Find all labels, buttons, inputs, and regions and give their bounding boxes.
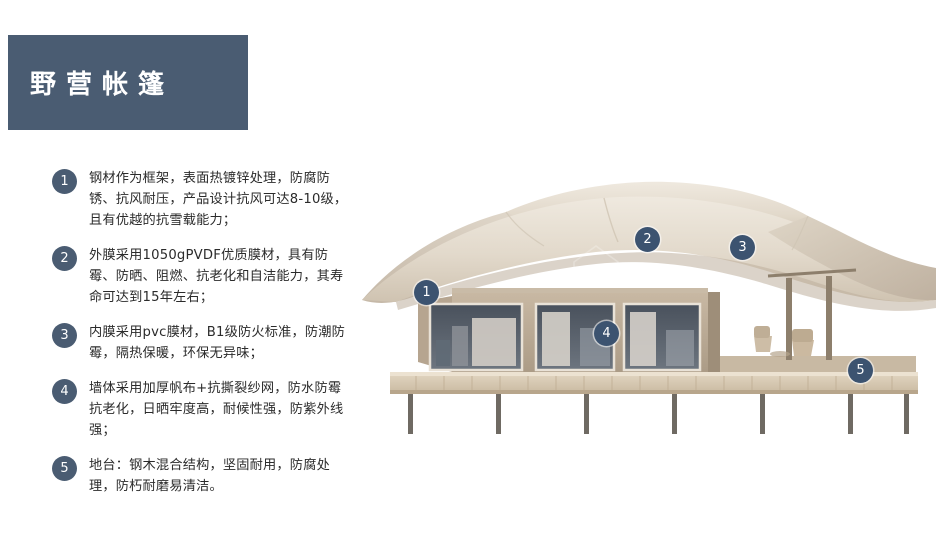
callout-marker-2[interactable]: 2 — [635, 227, 660, 252]
list-item: 3 内膜采用pvc膜材，B1级防火标准，防潮防霉，隔热保暖，环保无异味； — [52, 322, 352, 364]
callout-marker-1[interactable]: 1 — [414, 280, 439, 305]
page-title: 野营帐篷 — [8, 64, 174, 101]
lounge-chair-left — [754, 326, 772, 352]
feature-badge-5: 5 — [52, 456, 77, 481]
feature-text-3: 内膜采用pvc膜材，B1级防火标准，防潮防霉，隔热保暖，环保无异味； — [89, 322, 352, 364]
tent-drawing — [356, 150, 942, 440]
lounge-chair-right — [792, 329, 814, 356]
feature-text-2: 外膜采用1050gPVDF优质膜材，具有防霉、防晒、阻燃、抗老化和自洁能力，其寿… — [89, 245, 352, 308]
callout-marker-5[interactable]: 5 — [848, 358, 873, 383]
title-block: 野营帐篷 — [8, 35, 248, 130]
deck-platform — [390, 372, 918, 434]
feature-list: 1 钢材作为框架，表面热镀锌处理，防腐防锈、抗风耐压，产品设计抗风可达8-10级… — [52, 168, 352, 511]
feature-badge-1: 1 — [52, 169, 77, 194]
tent-illustration: 1 2 3 4 5 — [356, 150, 942, 440]
feature-badge-4: 4 — [52, 379, 77, 404]
list-item: 5 地台：钢木混合结构，坚固耐用，防腐处理，防朽耐磨易清洁。 — [52, 455, 352, 497]
feature-text-5: 地台：钢木混合结构，坚固耐用，防腐处理，防朽耐磨易清洁。 — [89, 455, 352, 497]
glass-wall-panels — [430, 304, 700, 370]
feature-badge-2: 2 — [52, 246, 77, 271]
feature-text-4: 墙体采用加厚帆布+抗撕裂纱网，防水防霉抗老化，日晒牢度高，耐候性强，防紫外线强； — [89, 378, 352, 441]
list-item: 2 外膜采用1050gPVDF优质膜材，具有防霉、防晒、阻燃、抗老化和自洁能力，… — [52, 245, 352, 308]
feature-text-1: 钢材作为框架，表面热镀锌处理，防腐防锈、抗风耐压，产品设计抗风可达8-10级，且… — [89, 168, 352, 231]
callout-marker-4[interactable]: 4 — [594, 321, 619, 346]
list-item: 4 墙体采用加厚帆布+抗撕裂纱网，防水防霉抗老化，日晒牢度高，耐候性强，防紫外线… — [52, 378, 352, 441]
feature-badge-3: 3 — [52, 323, 77, 348]
list-item: 1 钢材作为框架，表面热镀锌处理，防腐防锈、抗风耐压，产品设计抗风可达8-10级… — [52, 168, 352, 231]
callout-marker-3[interactable]: 3 — [730, 235, 755, 260]
